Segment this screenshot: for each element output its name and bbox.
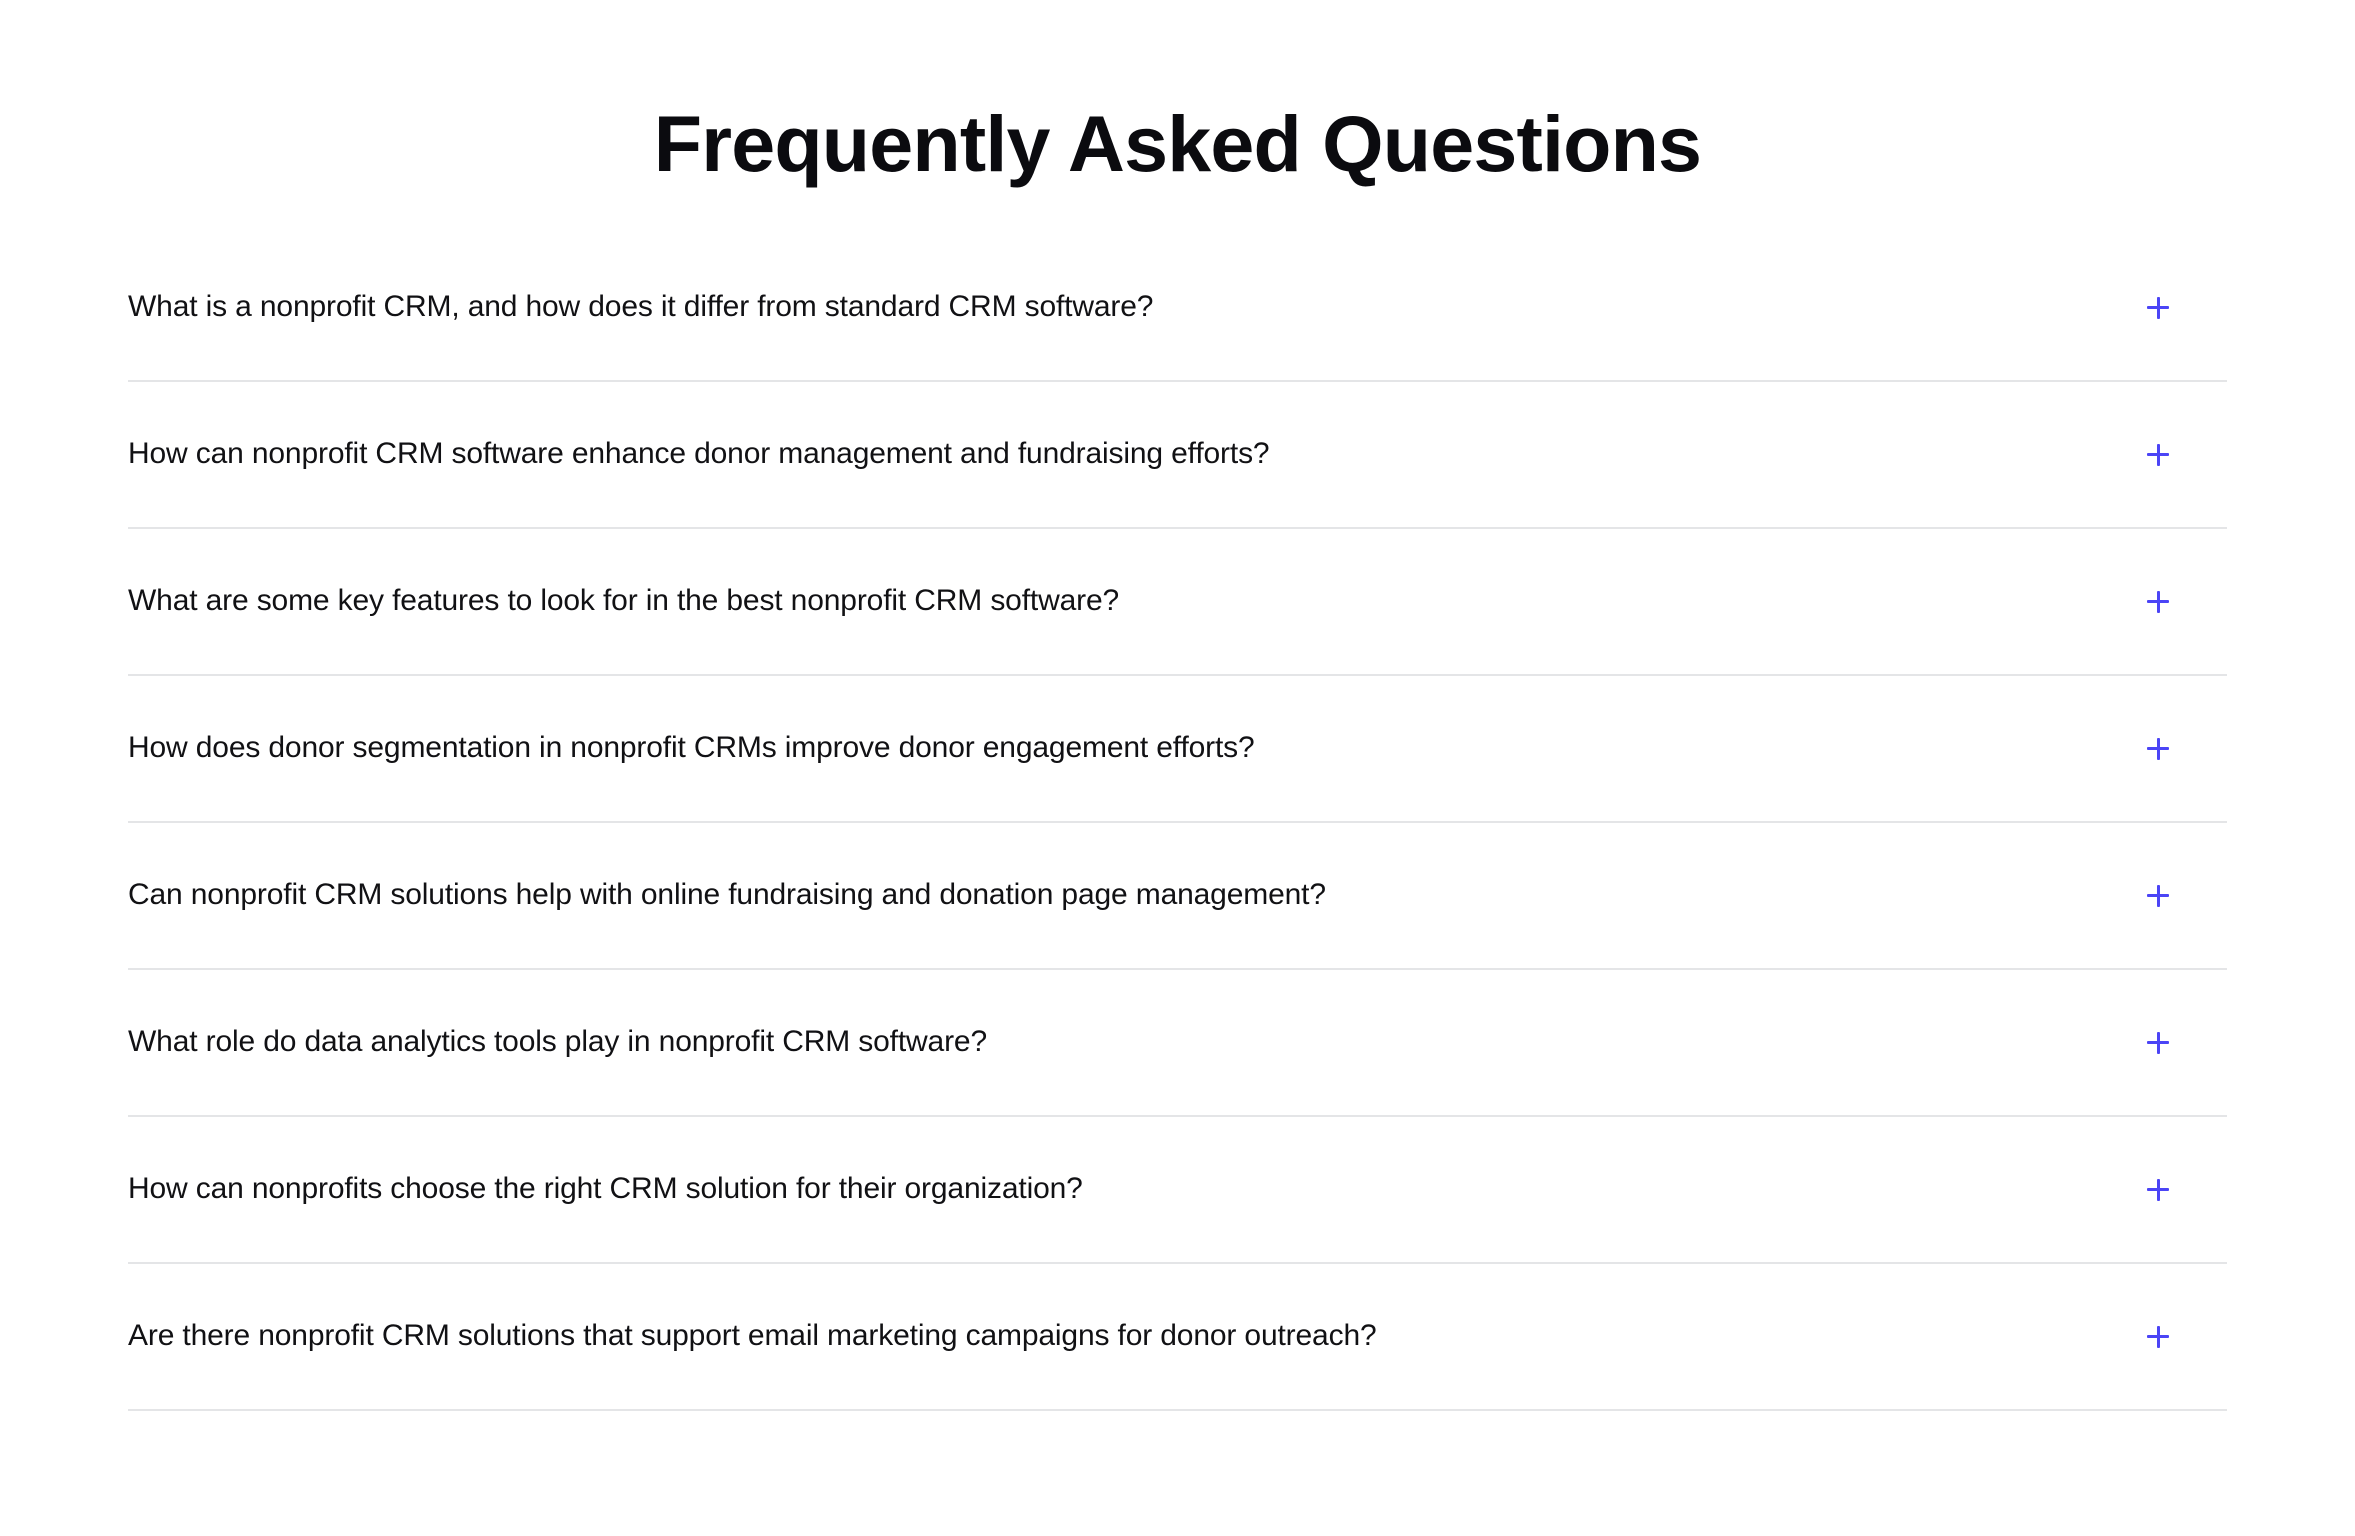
plus-icon-vertical-bar [2157, 885, 2160, 907]
plus-icon[interactable] [2141, 1026, 2175, 1060]
faq-question-label: How can nonprofits choose the right CRM … [128, 1169, 2117, 1210]
faq-item-row[interactable]: How can nonprofits choose the right CRM … [128, 1117, 2227, 1262]
plus-icon[interactable] [2141, 438, 2175, 472]
plus-icon-vertical-bar [2157, 1326, 2160, 1348]
plus-icon-vertical-bar [2157, 1032, 2160, 1054]
faq-accordion: What is a nonprofit CRM, and how does it… [128, 235, 2227, 1411]
plus-icon[interactable] [2141, 1320, 2175, 1354]
faq-question-label: What is a nonprofit CRM, and how does it… [128, 287, 2117, 328]
faq-item-row[interactable]: What is a nonprofit CRM, and how does it… [128, 235, 2227, 380]
page-title: Frequently Asked Questions [128, 104, 2227, 183]
faq-item-7[interactable]: How can nonprofits choose the right CRM … [128, 1117, 2227, 1264]
faq-item-row[interactable]: What role do data analytics tools play i… [128, 970, 2227, 1115]
faq-item-1[interactable]: What is a nonprofit CRM, and how does it… [128, 235, 2227, 382]
faq-item-6[interactable]: What role do data analytics tools play i… [128, 970, 2227, 1117]
plus-icon[interactable] [2141, 879, 2175, 913]
plus-icon[interactable] [2141, 291, 2175, 325]
faq-item-4[interactable]: How does donor segmentation in nonprofit… [128, 676, 2227, 823]
faq-item-8[interactable]: Are there nonprofit CRM solutions that s… [128, 1264, 2227, 1411]
plus-icon[interactable] [2141, 732, 2175, 766]
faq-item-row[interactable]: How does donor segmentation in nonprofit… [128, 676, 2227, 821]
plus-icon-vertical-bar [2157, 444, 2160, 466]
faq-item-3[interactable]: What are some key features to look for i… [128, 529, 2227, 676]
faq-page: Frequently Asked Questions What is a non… [0, 0, 2355, 1536]
faq-question-label: How does donor segmentation in nonprofit… [128, 728, 2117, 769]
faq-item-row[interactable]: Can nonprofit CRM solutions help with on… [128, 823, 2227, 968]
faq-item-row[interactable]: Are there nonprofit CRM solutions that s… [128, 1264, 2227, 1409]
faq-item-row[interactable]: What are some key features to look for i… [128, 529, 2227, 674]
faq-question-label: Can nonprofit CRM solutions help with on… [128, 875, 2117, 916]
faq-question-label: Are there nonprofit CRM solutions that s… [128, 1316, 2117, 1357]
faq-item-5[interactable]: Can nonprofit CRM solutions help with on… [128, 823, 2227, 970]
plus-icon-vertical-bar [2157, 591, 2160, 613]
plus-icon-vertical-bar [2157, 738, 2160, 760]
faq-question-label: How can nonprofit CRM software enhance d… [128, 434, 2117, 475]
plus-icon[interactable] [2141, 1173, 2175, 1207]
plus-icon-vertical-bar [2157, 1179, 2160, 1201]
faq-question-label: What role do data analytics tools play i… [128, 1022, 2117, 1063]
plus-icon[interactable] [2141, 585, 2175, 619]
faq-item-2[interactable]: How can nonprofit CRM software enhance d… [128, 382, 2227, 529]
faq-question-label: What are some key features to look for i… [128, 581, 2117, 622]
plus-icon-vertical-bar [2157, 297, 2160, 319]
faq-item-row[interactable]: How can nonprofit CRM software enhance d… [128, 382, 2227, 527]
